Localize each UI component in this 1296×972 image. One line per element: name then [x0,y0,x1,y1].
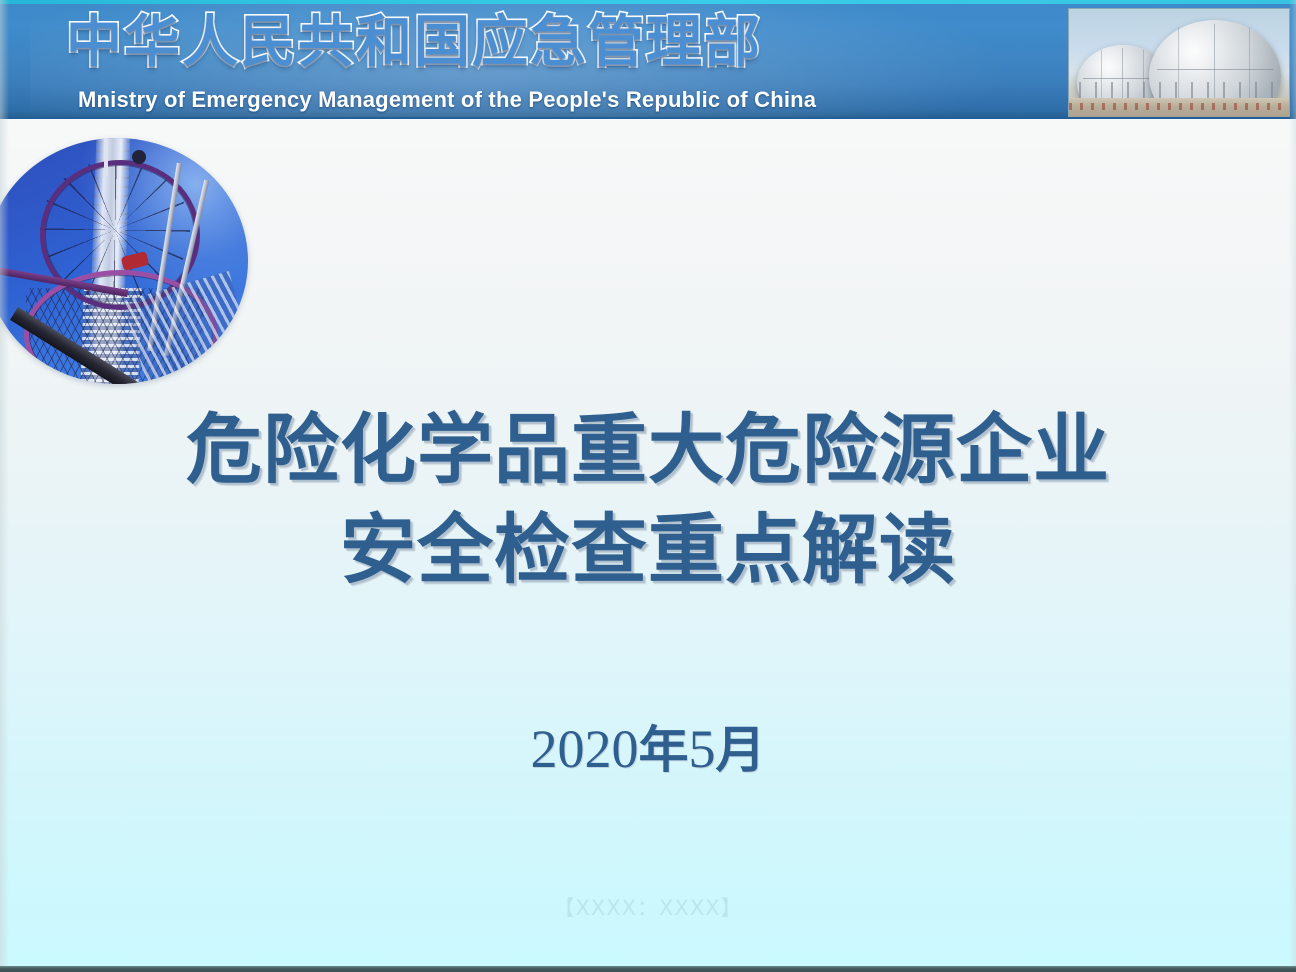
slide-title: 危险化学品重大危险源企业 安全检查重点解读 [0,400,1296,600]
date-month: 5 [689,719,716,779]
tower-circle-photo [0,138,248,384]
banner-title-english: Mnistry of Emergency Management of the P… [78,87,816,113]
tower-antenna [104,138,108,176]
slide-title-line-2: 安全检查重点解读 [0,500,1296,600]
footer-placeholder-note: 【XXXX：XXXX】 [0,892,1296,922]
date-year: 2020 [531,719,639,779]
tower-antenna-dish [132,150,146,164]
tank-ground-detail [1069,103,1290,110]
slide-title-line-1: 危险化学品重大危险源企业 [0,400,1296,500]
header-banner: 中华人民共和国应急管理部 Mnistry of Emergency Manage… [0,0,1296,119]
banner-body: 中华人民共和国应急管理部 Mnistry of Emergency Manage… [0,4,1296,119]
spherical-tanks-photo [1068,8,1290,119]
slide-date: 2020年5月 [0,715,1296,784]
date-year-unit: 年 [639,721,689,779]
presentation-slide: 中华人民共和国应急管理部 Mnistry of Emergency Manage… [0,0,1296,972]
slide-bottom-rule [0,966,1296,972]
date-month-unit: 月 [716,721,766,779]
banner-title-chinese: 中华人民共和国应急管理部 [66,11,762,75]
